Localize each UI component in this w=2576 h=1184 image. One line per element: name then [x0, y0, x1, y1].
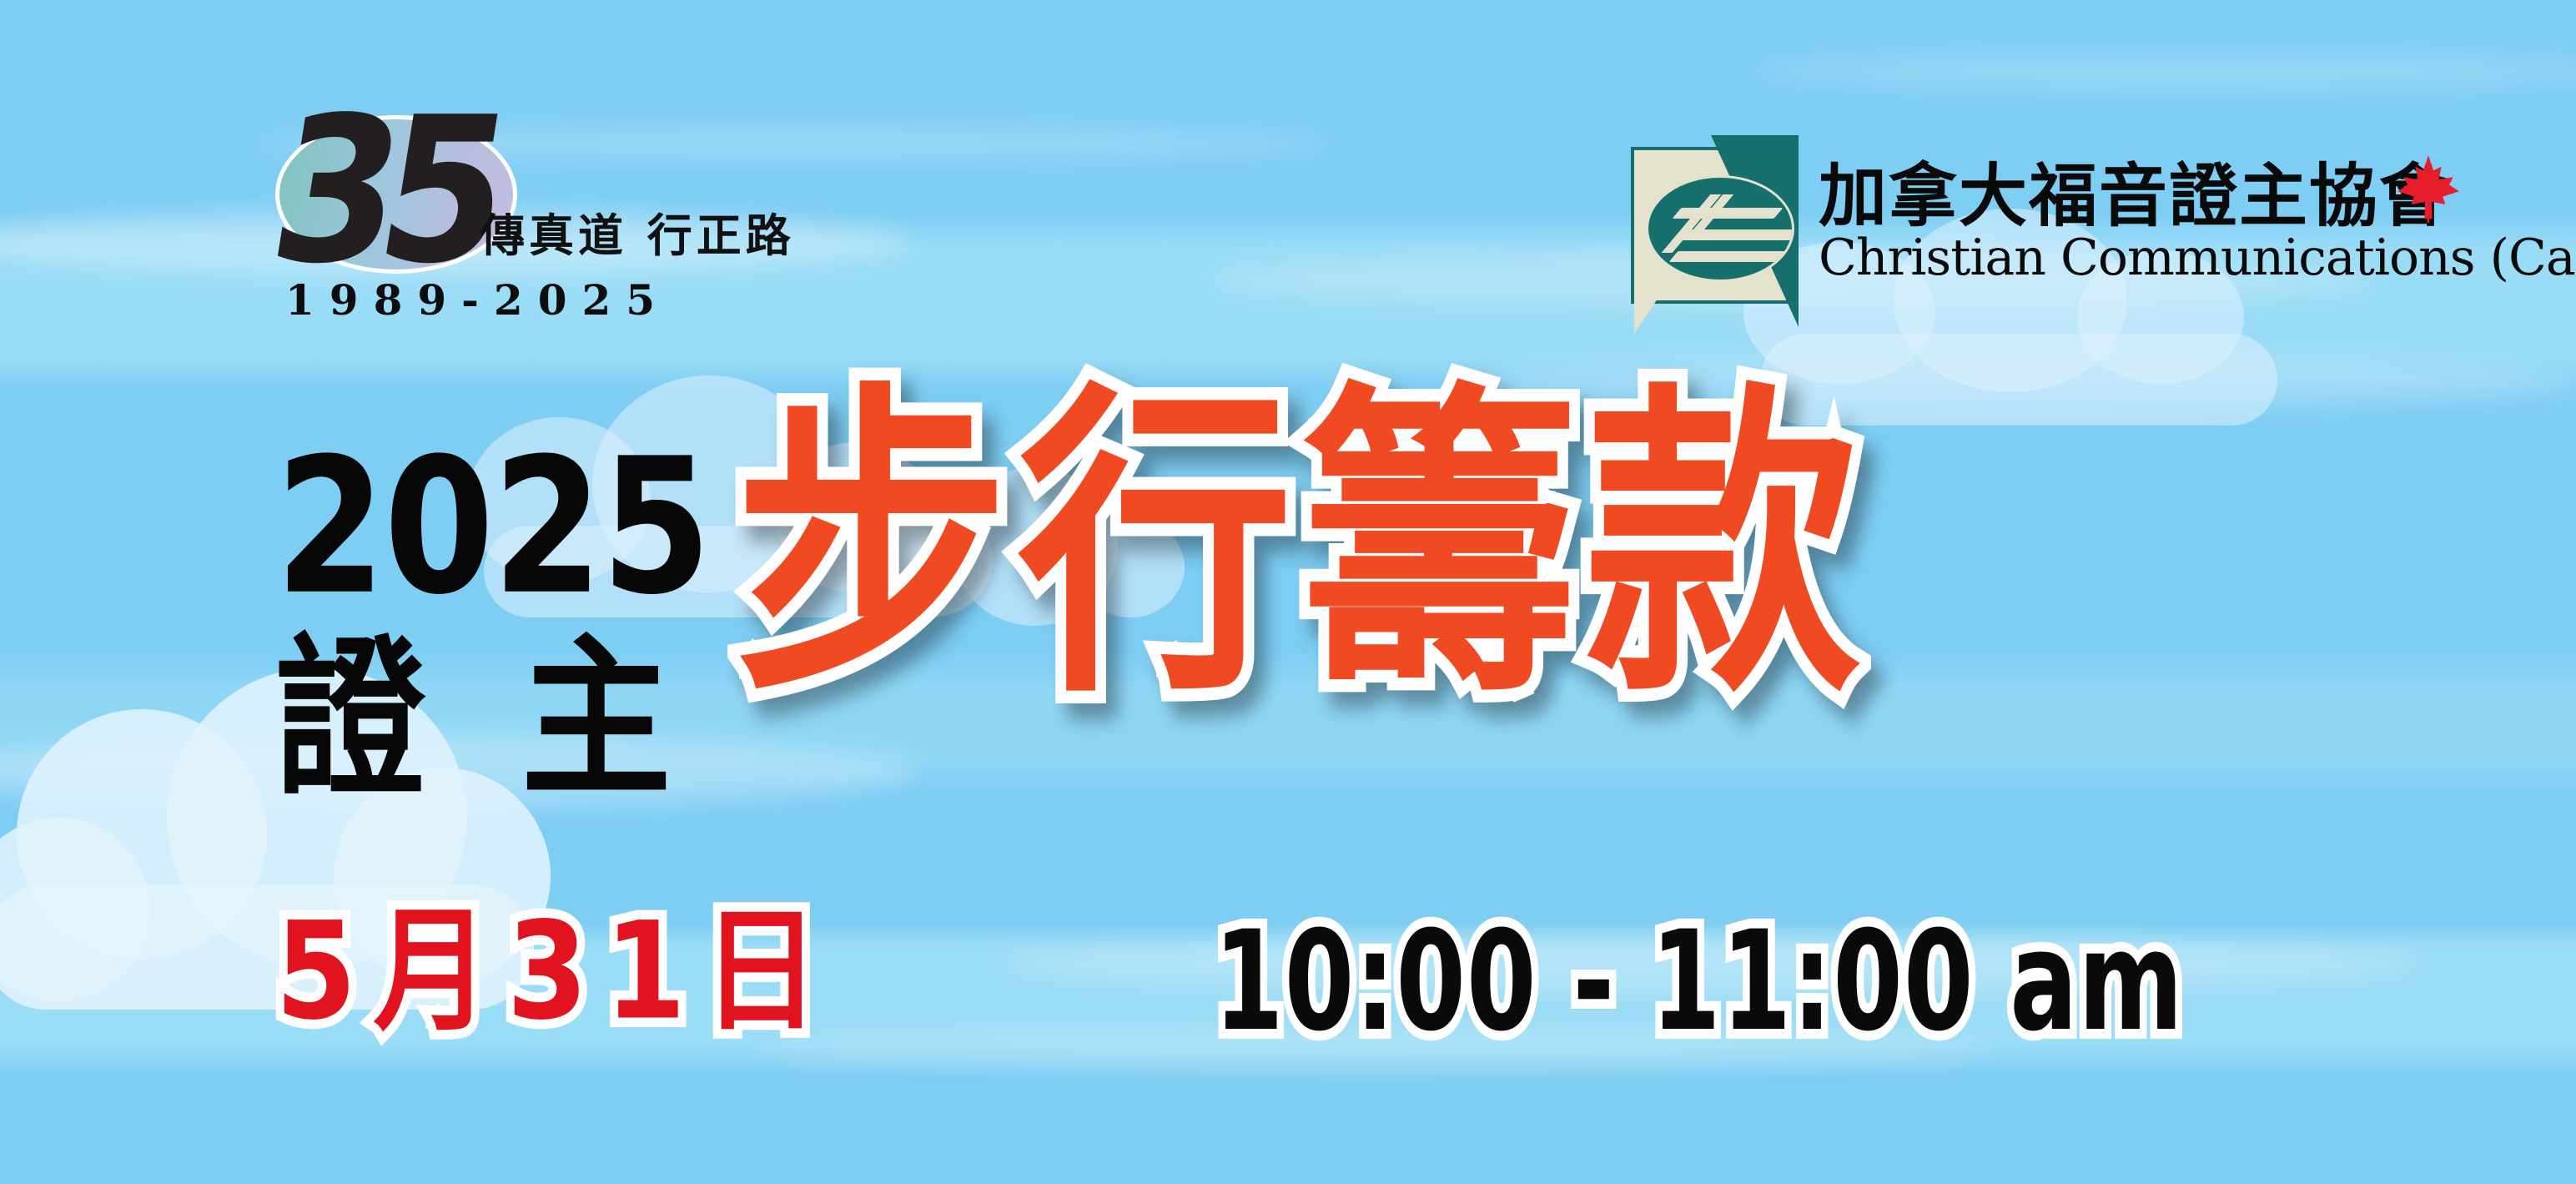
event-date: 5月31日	[275, 905, 836, 1040]
anniversary-motto: 傳真道 行正路	[480, 199, 795, 265]
maple-leaf-icon	[2394, 154, 2463, 225]
event-time: 10:00 - 11:00 am	[1214, 914, 2184, 1051]
ccc-emblem-icon	[1631, 147, 1794, 326]
org-name-english: Christian Communications (Canada)	[1819, 229, 2576, 287]
anniversary-years: 1989-2025	[285, 275, 670, 325]
org-name-chinese: 加拿大福音證主協會	[1819, 140, 2449, 239]
anniversary-numeral: 35	[260, 90, 505, 291]
event-headline: 步行籌款	[734, 384, 1869, 708]
event-banner: 35 傳真道 行正路 1989-2025 加拿大福音證主協會 Christian…	[0, 0, 2576, 1184]
event-subject: 證 主	[275, 634, 693, 807]
anniversary-logo: 35 傳真道 行正路 1989-2025	[275, 100, 759, 284]
organization-logo: 加拿大福音證主協會 Christian Communications (Cana…	[1631, 147, 2482, 314]
event-year: 2025	[275, 434, 710, 621]
